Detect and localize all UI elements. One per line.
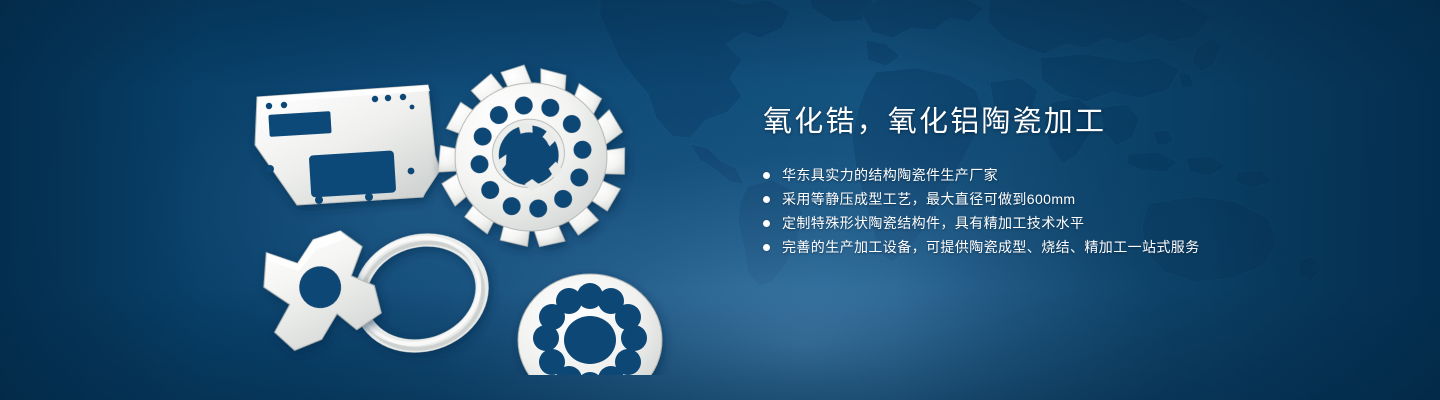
- bullet-dot-icon: [763, 172, 770, 179]
- ceramic-mounting-plate: [255, 85, 440, 205]
- ceramic-perforated-disc: [518, 274, 662, 375]
- list-item: 定制特殊形状陶瓷结构件，具有精加工技术水平: [763, 211, 1363, 235]
- feature-list: 华东具实力的结构陶瓷件生产厂家 采用等静压成型工艺，最大直径可做到600mm 定…: [763, 163, 1363, 259]
- ceramic-cross-plate: [259, 227, 384, 352]
- ceramic-impeller-rotor: [425, 53, 636, 259]
- bullet-dot-icon: [763, 220, 770, 227]
- list-item-label: 采用等静压成型工艺，最大直径可做到600mm: [782, 187, 1075, 211]
- list-item: 华东具实力的结构陶瓷件生产厂家: [763, 163, 1363, 187]
- list-item-label: 定制特殊形状陶瓷结构件，具有精加工技术水平: [782, 211, 1084, 235]
- banner-text-column: 氧化锆，氧化铝陶瓷加工 华东具实力的结构陶瓷件生产厂家 采用等静压成型工艺，最大…: [763, 105, 1363, 275]
- list-item-label: 华东具实力的结构陶瓷件生产厂家: [782, 163, 998, 187]
- hero-banner: 氧化锆，氧化铝陶瓷加工 华东具实力的结构陶瓷件生产厂家 采用等静压成型工艺，最大…: [0, 0, 1440, 400]
- list-item: 完善的生产加工设备，可提供陶瓷成型、烧结、精加工一站式服务: [763, 235, 1363, 259]
- list-item-label: 完善的生产加工设备，可提供陶瓷成型、烧结、精加工一站式服务: [782, 235, 1200, 259]
- product-photo-group: [235, 45, 705, 375]
- list-item: 采用等静压成型工艺，最大直径可做到600mm: [763, 187, 1363, 211]
- page-title: 氧化锆，氧化铝陶瓷加工: [763, 105, 1363, 139]
- bullet-dot-icon: [763, 244, 770, 251]
- bullet-dot-icon: [763, 196, 770, 203]
